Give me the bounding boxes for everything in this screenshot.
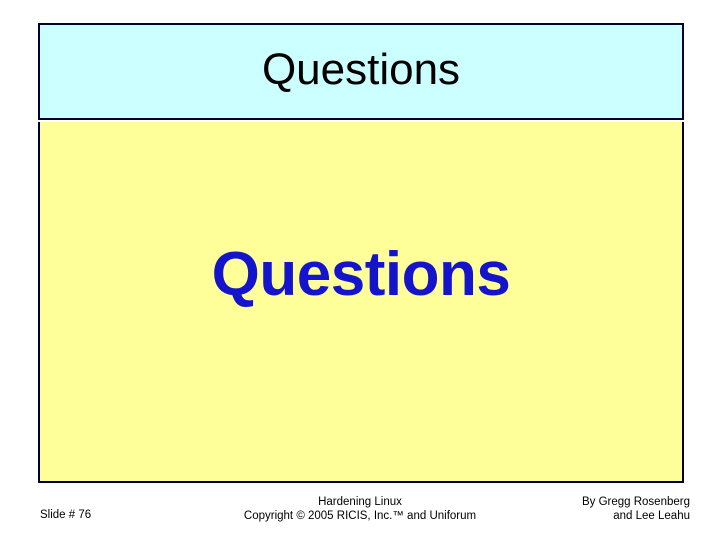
footer-author-line2: and Lee Leahu xyxy=(582,509,690,523)
footer-author-line1: By Gregg Rosenberg xyxy=(582,495,690,509)
slide-body-heading: Questions xyxy=(212,244,511,306)
slide-title: Questions xyxy=(262,48,460,92)
slide-number: Slide # 76 xyxy=(40,509,91,521)
footer-course-title: Hardening Linux xyxy=(145,495,575,509)
presentation-slide: Questions Questions Slide # 76 Hardening… xyxy=(0,0,720,540)
slide-footer: Slide # 76 Hardening Linux Copyright © 2… xyxy=(0,490,720,540)
footer-author-block: By Gregg Rosenberg and Lee Leahu xyxy=(582,495,690,523)
footer-center-block: Hardening Linux Copyright © 2005 RICIS, … xyxy=(145,495,575,523)
footer-copyright: Copyright © 2005 RICIS, Inc.™ and Unifor… xyxy=(145,509,575,523)
slide-body-band: Questions xyxy=(38,122,684,483)
slide-title-band: Questions xyxy=(38,23,684,120)
